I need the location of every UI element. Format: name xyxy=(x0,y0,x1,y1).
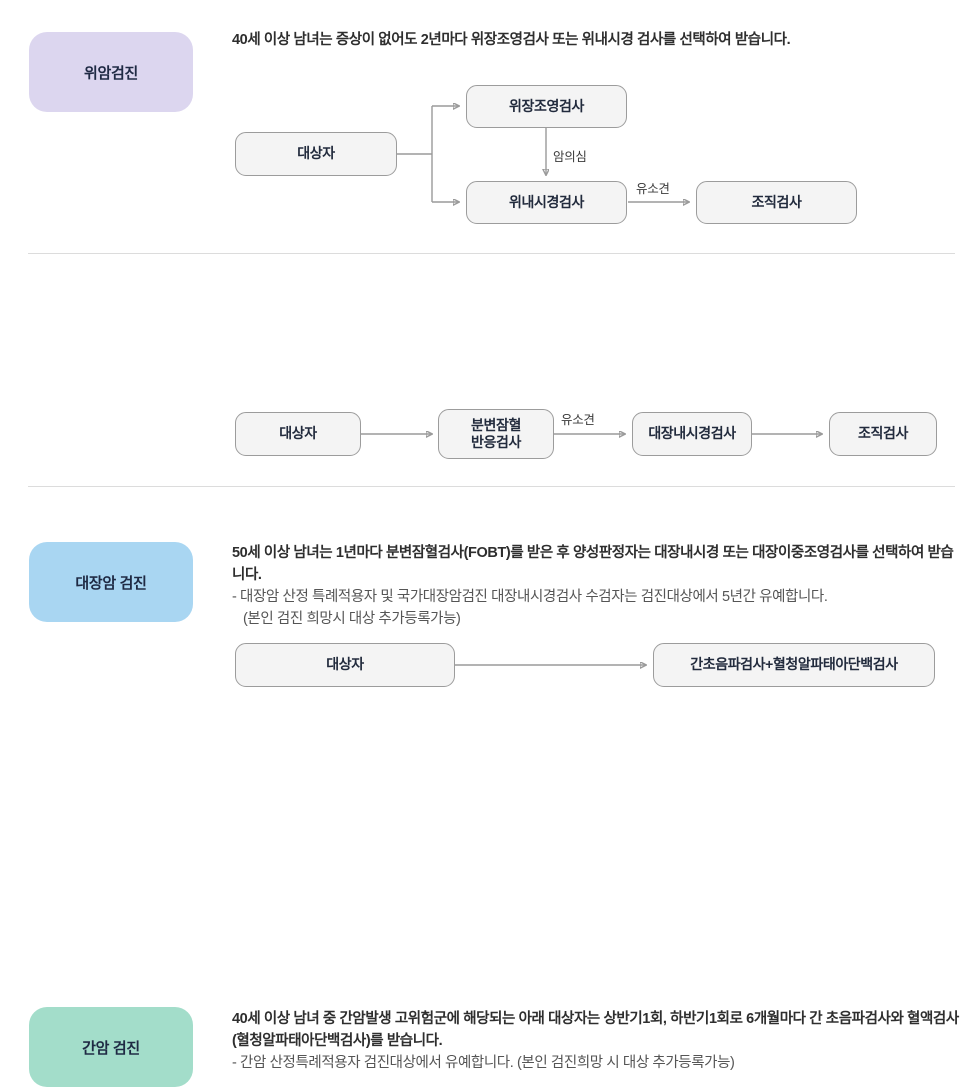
flow-node-target-colon: 대상자 xyxy=(235,412,361,456)
flow-node-liver-ultrasound-afp: 간초음파검사+혈청알파태아단백검사 xyxy=(653,643,935,687)
section-colon-screening: 대장암 검진 50세 이상 남녀는 1년마다 분변잠혈검사(FOBT)를 받은 … xyxy=(0,254,979,486)
screening-info-page: 위암검진 40세 이상 남녀는 증상이 없어도 2년마다 위장조영검사 또는 위… xyxy=(0,0,979,717)
flow-node-target-liver: 대상자 xyxy=(235,643,455,687)
flow-node-biopsy-colon: 조직검사 xyxy=(829,412,937,456)
flow-diagram-stomach: 대상자 위장조영검사 위내시경검사 조직검사 암의심 유소견 xyxy=(0,0,979,253)
flow-diagram-colon: 대상자 분변잠혈 반응검사 대장내시경검사 조직검사 유소견 xyxy=(0,254,979,486)
flow-diagram-liver: 대상자 간초음파검사+혈청알파태아단백검사 xyxy=(0,487,979,717)
flow-node-biopsy-stomach: 조직검사 xyxy=(696,181,857,224)
category-badge-liver: 간암 검진 xyxy=(29,1007,193,1087)
flow-node-colonoscopy: 대장내시경검사 xyxy=(632,412,752,456)
description-note-liver-1: - 간암 산정특례적용자 검진대상에서 유예합니다. (본인 검진희망 시 대상… xyxy=(232,1052,962,1074)
flow-node-fobt: 분변잠혈 반응검사 xyxy=(438,409,554,459)
edge-label-finding-stomach: 유소견 xyxy=(636,178,670,197)
flow-node-target-stomach: 대상자 xyxy=(235,132,397,176)
edge-label-finding-colon: 유소견 xyxy=(561,409,595,428)
edge-label-cancer-suspected: 암의심 xyxy=(553,146,587,165)
description-lead-liver: 40세 이상 남녀 중 간암발생 고위험군에 해당되는 아래 대상자는 상반기1… xyxy=(232,1008,962,1052)
section-stomach-screening: 위암검진 40세 이상 남녀는 증상이 없어도 2년마다 위장조영검사 또는 위… xyxy=(0,0,979,253)
flow-node-upper-gi-series: 위장조영검사 xyxy=(466,85,627,128)
flow-node-gastroscopy: 위내시경검사 xyxy=(466,181,627,224)
description-liver: 40세 이상 남녀 중 간암발생 고위험군에 해당되는 아래 대상자는 상반기1… xyxy=(232,1008,962,1074)
section-liver-screening: 간암 검진 40세 이상 남녀 중 간암발생 고위험군에 해당되는 아래 대상자… xyxy=(0,487,979,717)
